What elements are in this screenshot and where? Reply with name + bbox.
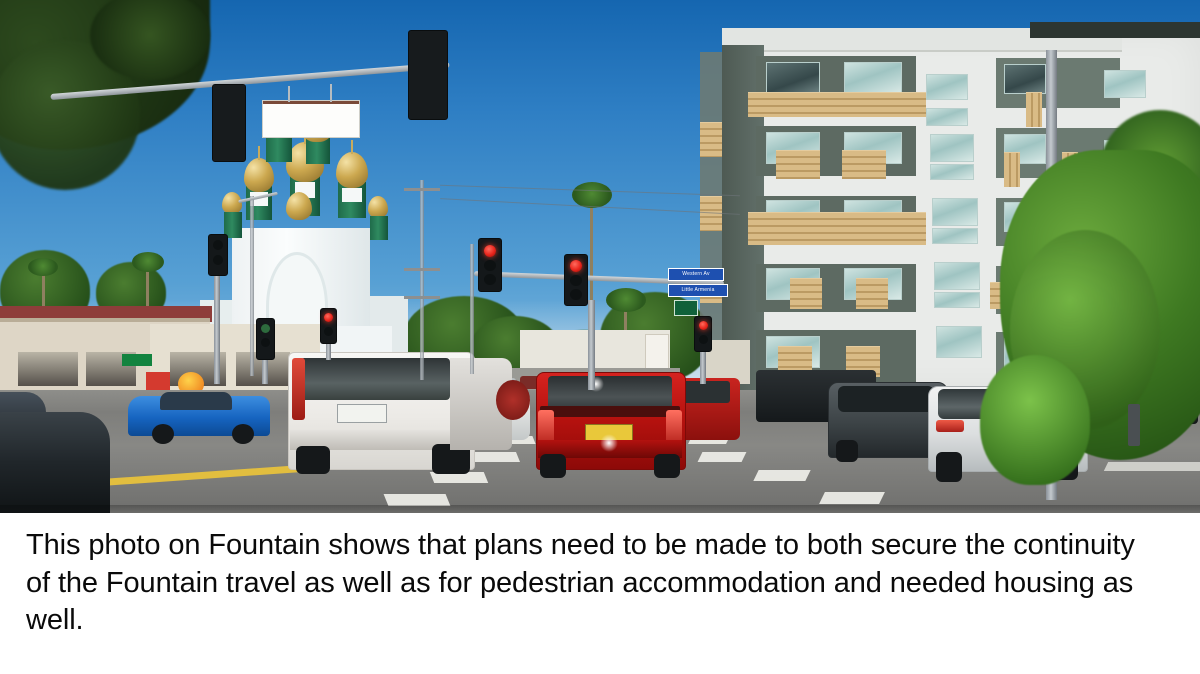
window-c1b bbox=[926, 108, 968, 126]
church-cross-left bbox=[258, 146, 260, 160]
pedestrian-signal-center bbox=[320, 308, 337, 344]
balcony-rail-l4b bbox=[856, 278, 888, 309]
palm-fronds-tall bbox=[572, 182, 612, 208]
balcony-rail-l2b bbox=[842, 150, 886, 179]
signal-red-lamp-left bbox=[484, 245, 496, 257]
signal-green-lamp-left bbox=[484, 274, 496, 285]
ped-lamp-left-2 bbox=[213, 255, 223, 265]
ped-lamp-center-off bbox=[324, 327, 333, 336]
palm-fronds-left bbox=[132, 252, 164, 272]
motel-sign bbox=[645, 334, 669, 370]
ped-lamp-left2-1 bbox=[261, 324, 270, 333]
overhead-signal-left bbox=[478, 238, 502, 292]
palm-fronds-center bbox=[606, 288, 646, 312]
white-suv-rear-window bbox=[300, 358, 450, 400]
crosswalk-stripe-5 bbox=[470, 452, 520, 462]
white-suv-plate bbox=[337, 404, 387, 423]
silver-hatchback-tire-left bbox=[936, 452, 962, 482]
mast-arm-signal-rear-left bbox=[212, 84, 246, 162]
overhead-signal-center bbox=[564, 254, 588, 306]
storefront-green-sign bbox=[122, 354, 152, 366]
sign-hanger-right bbox=[330, 84, 332, 102]
utility-crossarm-3 bbox=[404, 296, 440, 299]
window-fr1 bbox=[1104, 70, 1146, 98]
balcony-rail-r1 bbox=[1026, 92, 1042, 127]
dark-sedan-tire bbox=[836, 440, 858, 462]
utility-crossarm-2 bbox=[404, 268, 440, 271]
window-c2b bbox=[930, 164, 974, 180]
window-r1 bbox=[1004, 64, 1046, 94]
window-c3 bbox=[932, 198, 978, 226]
window-c5 bbox=[936, 326, 982, 358]
street-photo: Western Av Little Armenia bbox=[0, 0, 1200, 513]
signal-amber-lamp-left bbox=[484, 260, 496, 271]
ped-lamp-center-red bbox=[324, 313, 333, 322]
white-suv-taillight-left bbox=[292, 358, 305, 420]
window-c3b bbox=[932, 228, 978, 244]
storefront-red-sign bbox=[146, 372, 170, 392]
green-route-sign bbox=[674, 300, 698, 316]
red-hatchback-spoiler bbox=[540, 406, 680, 417]
crosswalk-stripe-3 bbox=[819, 492, 885, 504]
window-l1b bbox=[844, 62, 902, 94]
church-dome-small-right bbox=[368, 196, 388, 218]
balcony-rail-wing-1 bbox=[700, 122, 722, 157]
church-dome-right bbox=[336, 152, 368, 188]
overhead-blank-sign bbox=[262, 100, 360, 138]
balcony-rail-l2a bbox=[776, 150, 820, 179]
window-c4 bbox=[934, 262, 980, 290]
street-sign-little-armenia-label: Little Armenia bbox=[681, 288, 714, 293]
balcony-rail-l1 bbox=[748, 92, 926, 117]
church-dome-small-front bbox=[286, 192, 312, 220]
church-drum-window-right bbox=[342, 188, 362, 202]
dark-sedan-glass bbox=[838, 386, 934, 412]
church-drum-small-right bbox=[370, 216, 388, 240]
crosswalk-stripe-2 bbox=[753, 470, 810, 481]
street-sign-western-av: Western Av bbox=[668, 268, 724, 281]
crosswalk-stripe-1 bbox=[698, 452, 747, 462]
utility-crossarm-1 bbox=[404, 188, 440, 191]
silver-hatchback-taillight-left bbox=[936, 420, 964, 432]
palm-fronds-left2 bbox=[28, 258, 58, 276]
pedestrian-signal-right bbox=[694, 316, 712, 352]
blue-coupe-glass bbox=[160, 392, 232, 410]
right-tree-low bbox=[980, 355, 1090, 485]
balcony-rail-l3 bbox=[748, 212, 926, 245]
white-suv-decal bbox=[496, 380, 530, 420]
mast-arm-signal-rear-right bbox=[408, 30, 448, 120]
street-light-pole-left bbox=[250, 196, 254, 376]
red-hatchback-tire-left bbox=[540, 454, 566, 478]
pedestrian-signal-left-2 bbox=[256, 318, 275, 360]
window-l1a bbox=[766, 62, 820, 94]
blue-coupe-tire-rear bbox=[232, 424, 254, 444]
caption-text: This photo on Fountain shows that plans … bbox=[0, 513, 1192, 640]
balcony-rail-l4a bbox=[790, 278, 822, 309]
street-sign-western-av-label: Western Av bbox=[682, 272, 709, 277]
signal-pole-center bbox=[588, 300, 595, 390]
crosswalk-stripe-9 bbox=[1104, 462, 1200, 471]
storefront-glass-1 bbox=[18, 352, 78, 386]
ped-lamp-left2-2 bbox=[261, 338, 270, 347]
ped-lamp-left-1 bbox=[213, 240, 223, 250]
window-c1 bbox=[926, 74, 968, 100]
dark-car-foreground bbox=[0, 412, 110, 513]
pedestrian-signal-left bbox=[208, 234, 228, 276]
window-c2 bbox=[930, 134, 974, 162]
signal-red-lamp-center bbox=[570, 260, 582, 272]
caption-area: This photo on Fountain shows that plans … bbox=[0, 513, 1200, 674]
page-root: Western Av Little Armenia This photo on … bbox=[0, 0, 1200, 674]
window-c4b bbox=[934, 292, 980, 308]
street-sign-little-armenia: Little Armenia bbox=[668, 284, 728, 297]
church-cross-right bbox=[351, 140, 353, 154]
street-light-pole-center bbox=[470, 244, 474, 374]
red-hatchback-sun-glint bbox=[600, 434, 618, 452]
sign-hanger-left bbox=[288, 86, 290, 102]
signal-green-lamp-center bbox=[570, 289, 582, 300]
red-hatchback-tire-right bbox=[654, 454, 680, 478]
bollard-right bbox=[1128, 404, 1140, 446]
signal-amber-lamp-center bbox=[570, 275, 582, 286]
balcony-rail-r2a bbox=[1004, 152, 1020, 187]
ped-lamp-right-off bbox=[699, 335, 708, 344]
utility-pole-left bbox=[420, 180, 424, 380]
blue-coupe-tire-front bbox=[152, 424, 174, 444]
white-suv-tire-left bbox=[296, 446, 330, 474]
church-dome-left bbox=[244, 158, 274, 192]
building-parapet-right bbox=[1030, 22, 1200, 38]
ped-lamp-right-red bbox=[699, 321, 708, 330]
